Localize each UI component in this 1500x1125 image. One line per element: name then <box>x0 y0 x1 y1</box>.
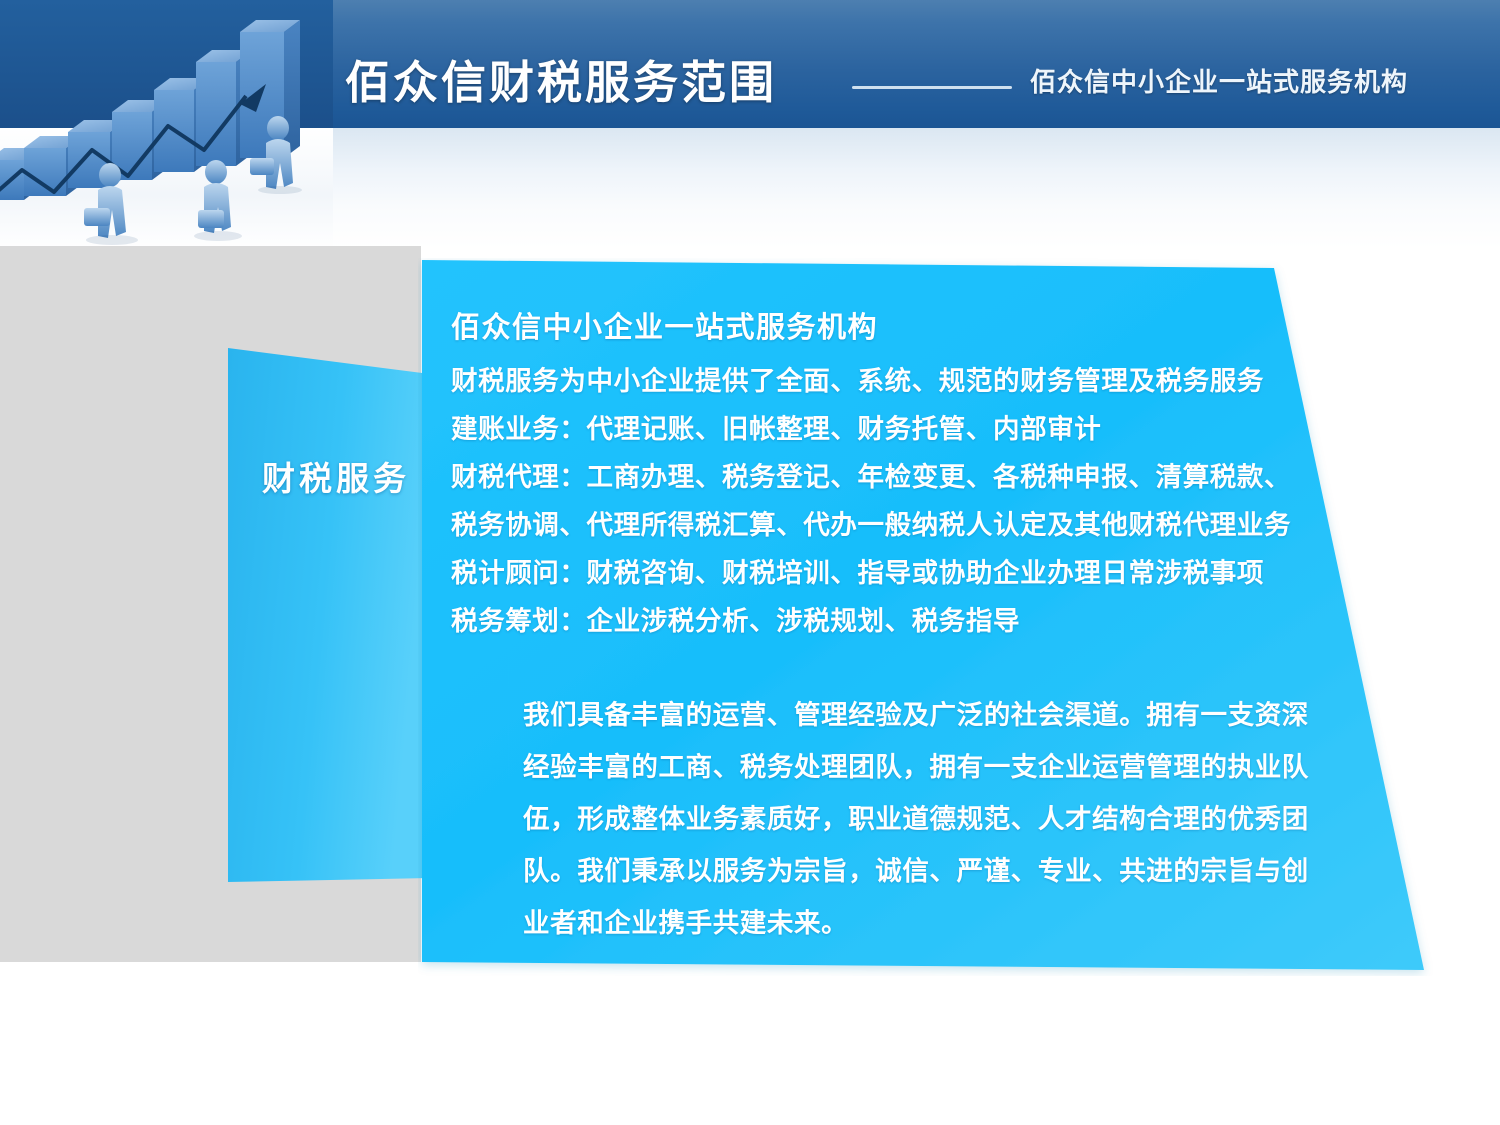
service-line: 税计顾问：财税咨询、财税培训、指导或协助企业办理日常涉税事项 <box>451 550 1351 598</box>
service-line: 建账业务：代理记账、旧帐整理、财务托管、内部审计 <box>451 406 1351 454</box>
service-line: 财税代理：工商办理、税务登记、年检变更、各税种申报、清算税款、 <box>451 454 1351 502</box>
service-line: 税务筹划：企业涉税分析、涉税规划、税务指导 <box>451 598 1351 646</box>
header-subtitle: 佰众信中小企业一站式服务机构 <box>1030 62 1408 99</box>
page-title: 佰众信财税服务范围 <box>345 46 777 111</box>
main-content: 佰众信中小企业一站式服务机构 财税服务为中小企业提供了全面、系统、规范的财务管理… <box>418 258 1433 976</box>
company-description-paragraph: 我们具备丰富的运营、管理经验及广泛的社会渠道。拥有一支资深 经验丰富的工商、税务… <box>523 690 1323 950</box>
header-divider-rule <box>852 86 1012 89</box>
service-line: 税务协调、代理所得税汇算、代办一般纳税人认定及其他财税代理业务 <box>451 502 1351 550</box>
paragraph-line: 业者和企业携手共建未来。 <box>523 898 1323 950</box>
paragraph-line: 队。我们秉承以服务为宗旨，诚信、严谨、专业、共进的宗旨与创 <box>523 846 1323 898</box>
category-tab-shape[interactable] <box>222 338 437 886</box>
paragraph-line: 经验丰富的工商、税务处理团队，拥有一支企业运营管理的执业队 <box>523 742 1323 794</box>
panel-heading: 佰众信中小企业一站式服务机构 <box>451 304 878 346</box>
service-list: 财税服务为中小企业提供了全面、系统、规范的财务管理及税务服务 建账业务：代理记账… <box>451 358 1351 646</box>
sidebar-item-caishui-fuwu[interactable]: 财税服务 <box>246 452 426 500</box>
3d-bar-chart-growth-illustration <box>0 0 333 250</box>
slide-root: 佰众信财税服务范围 佰众信中小企业一站式服务机构 财税服务 <box>0 0 1500 1125</box>
service-line: 财税服务为中小企业提供了全面、系统、规范的财务管理及税务服务 <box>451 358 1351 406</box>
paragraph-line: 伍，形成整体业务素质好，职业道德规范、人才结构合理的优秀团 <box>523 794 1323 846</box>
paragraph-line: 我们具备丰富的运营、管理经验及广泛的社会渠道。拥有一支资深 <box>523 690 1323 742</box>
